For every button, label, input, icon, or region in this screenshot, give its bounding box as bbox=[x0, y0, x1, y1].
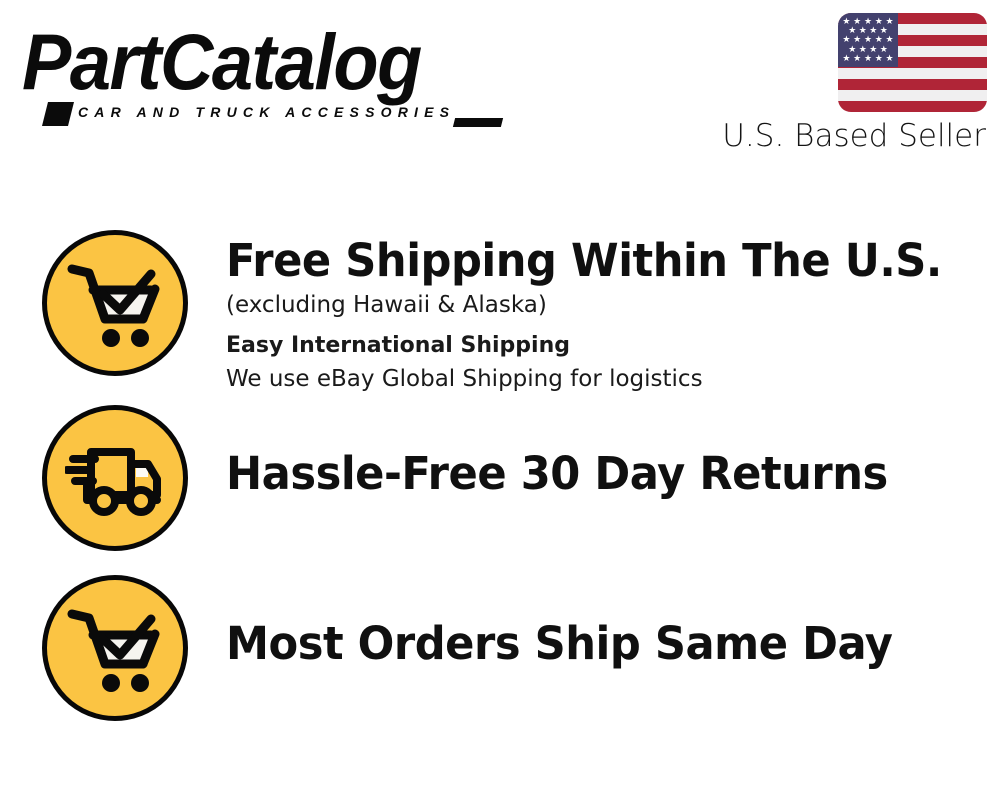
feature-text: Free Shipping Within The U.S. (excluding… bbox=[188, 230, 1000, 396]
shopping-cart-check-icon bbox=[42, 230, 188, 376]
feature-row: Hassle-Free 30 Day Returns bbox=[0, 405, 1000, 570]
star-icon: ★ bbox=[853, 54, 861, 63]
flag-stripe bbox=[838, 68, 987, 79]
feature-title: Free Shipping Within The U.S. bbox=[226, 234, 969, 288]
feature-subtext-secondary: We use eBay Global Shipping for logistic… bbox=[226, 362, 1000, 396]
feature-title: Hassle-Free 30 Day Returns bbox=[226, 447, 969, 501]
star-icon: ★ bbox=[842, 54, 850, 63]
flag-stripe bbox=[838, 90, 987, 101]
logo-left-mark bbox=[42, 102, 74, 126]
feature-text: Hassle-Free 30 Day Returns bbox=[188, 405, 1000, 501]
brand-logo[interactable]: PartCatalog CAR AND TRUCK ACCESSORIES bbox=[22, 22, 492, 114]
flag-star-row: ★ ★ ★ ★ ★ bbox=[841, 54, 895, 63]
feature-subtext: (excluding Hawaii & Alaska) bbox=[226, 288, 1000, 322]
page-header: PartCatalog CAR AND TRUCK ACCESSORIES ★ … bbox=[0, 0, 1000, 175]
us-based-seller-label: U.S. Based Seller bbox=[722, 118, 986, 154]
flag-stripe bbox=[838, 79, 987, 90]
feature-row: Free Shipping Within The U.S. (excluding… bbox=[0, 230, 1000, 400]
feature-subtext-bold: Easy International Shipping bbox=[226, 322, 1000, 362]
star-icon: ★ bbox=[875, 54, 883, 63]
logo-right-mark bbox=[453, 118, 503, 127]
brand-wordmark: PartCatalog bbox=[22, 22, 492, 103]
feature-row: Most Orders Ship Same Day bbox=[0, 575, 1000, 740]
flag-canton: ★ ★ ★ ★ ★ ★ ★ ★ ★ ★ ★ ★ ★ ★ ★ ★ bbox=[838, 13, 898, 67]
brand-tagline: CAR AND TRUCK ACCESSORIES bbox=[78, 104, 455, 120]
star-icon: ★ bbox=[864, 54, 872, 63]
feature-title: Most Orders Ship Same Day bbox=[226, 617, 969, 671]
shopping-cart-check-icon bbox=[42, 575, 188, 721]
delivery-truck-icon bbox=[42, 405, 188, 551]
feature-text: Most Orders Ship Same Day bbox=[188, 575, 1000, 671]
flag-stripe bbox=[838, 101, 987, 112]
star-icon: ★ bbox=[886, 54, 894, 63]
us-flag-icon: ★ ★ ★ ★ ★ ★ ★ ★ ★ ★ ★ ★ ★ ★ ★ ★ bbox=[838, 13, 987, 112]
